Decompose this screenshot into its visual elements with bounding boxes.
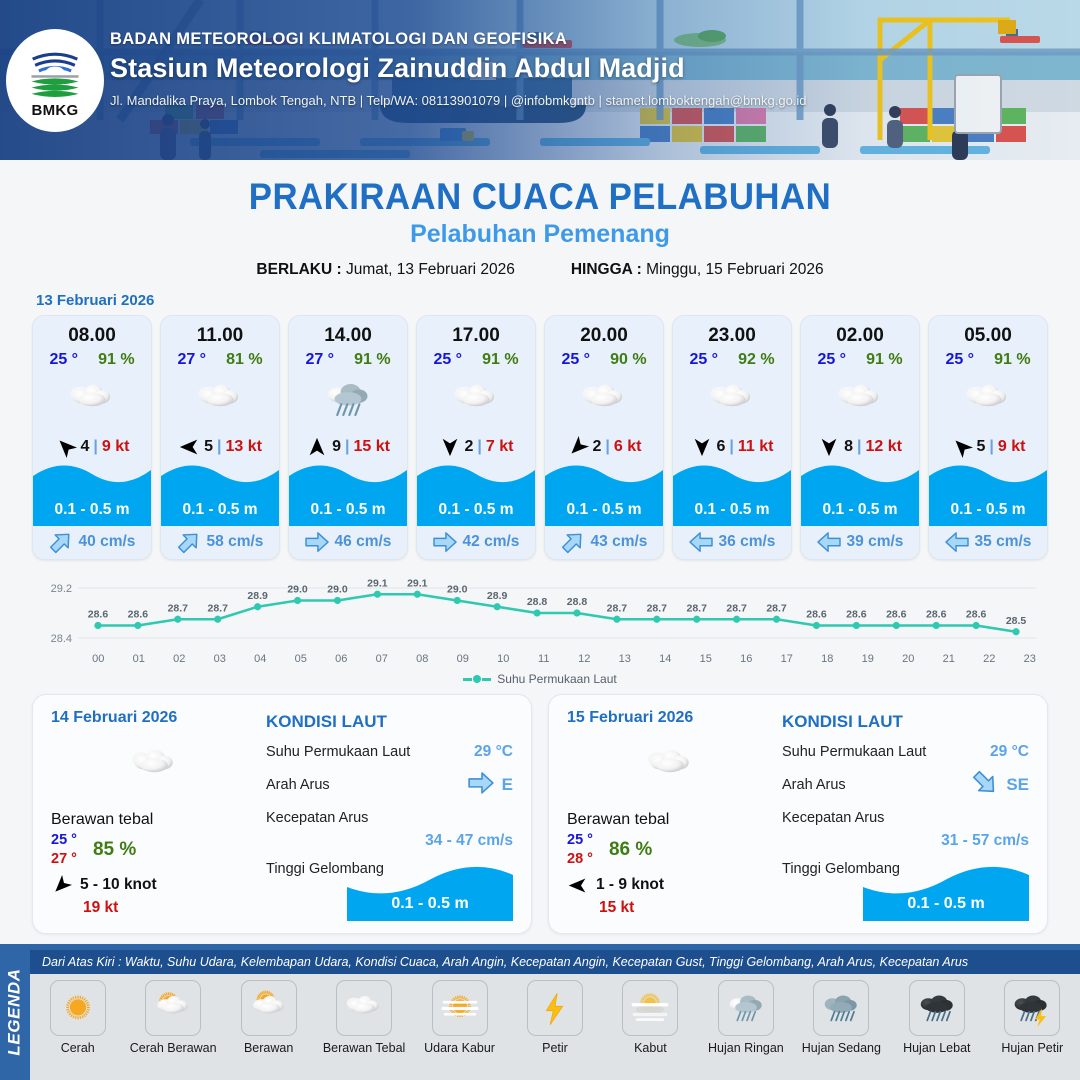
legend-caption: Dari Atas Kiri : Waktu, Suhu Udara, Kele… (30, 950, 1080, 974)
hourly-forecast-card: 20.00 25 ° 90 % 2 | 6 kt (544, 315, 664, 560)
card-weather-cloudy-icon (929, 373, 1047, 428)
page-title: PRAKIRAAN CUACA PELABUHAN (32, 176, 1047, 218)
bmkg-logo-text: BMKG (31, 102, 78, 119)
hourly-forecast-card: 23.00 25 ° 92 % 6 | 11 kt (672, 315, 792, 560)
hourly-forecast-card: 08.00 25 ° 91 % 4 | 9 kt (32, 315, 152, 560)
current-direction-icon (433, 532, 457, 552)
svg-text:28.7: 28.7 (168, 602, 189, 614)
wind-direction-icon (818, 436, 840, 458)
panel-gust: 15 kt (599, 899, 772, 917)
separator: | (217, 438, 221, 456)
wind-direction-icon (951, 436, 973, 458)
current-speed-label: Kecepatan Arus (266, 810, 368, 826)
panel-date: 15 Februari 2026 (567, 709, 772, 727)
legend-heavy-rain-icon (909, 980, 965, 1036)
panel-current-direction-icon (972, 772, 998, 799)
bmkg-logo-mark (24, 43, 86, 105)
legend-icon-row: Cerah Cerah Berawan (30, 974, 1080, 1080)
current-speed-value: 43 cm/s (591, 533, 648, 551)
card-temperature: 27 ° (177, 351, 206, 369)
card-time: 02.00 (801, 316, 919, 347)
hourly-forecast-row: 08.00 25 ° 91 % 4 | 9 kt (0, 315, 1080, 560)
chart-xtick: 00 (78, 653, 119, 665)
svg-text:28.7: 28.7 (686, 602, 707, 614)
panel-condition: Berawan tebal (567, 811, 772, 829)
wave-height-value: 0.1 - 0.5 m (823, 501, 898, 519)
wind-gust-value: 6 kt (614, 438, 642, 456)
chart-xtick: 21 (929, 653, 970, 665)
valid-to: HINGGA : Minggu, 15 Februari 2026 (571, 261, 824, 279)
separator: | (477, 438, 481, 456)
card-weather-light-rain-icon (289, 373, 407, 428)
legend-item-label: Berawan (244, 1041, 293, 1055)
legend-haze-icon (432, 980, 488, 1036)
wind-direction-value: 4 (81, 438, 90, 456)
svg-text:28.5: 28.5 (1006, 615, 1027, 627)
legend-item: Berawan (223, 980, 315, 1055)
legend-item: Hujan Ringan (700, 980, 792, 1055)
card-temperature: 25 ° (561, 351, 590, 369)
day1-date-label: 13 Februari 2026 (36, 292, 1080, 309)
current-speed-value: 46 cm/s (335, 533, 392, 551)
current-direction-icon (561, 532, 585, 552)
wind-direction-icon (439, 436, 461, 458)
card-time: 14.00 (289, 316, 407, 347)
card-weather-cloudy-icon (801, 373, 919, 428)
svg-text:28.6: 28.6 (88, 609, 109, 621)
wind-gust-value: 12 kt (865, 438, 901, 456)
legend-section: LEGENDA Dari Atas Kiri : Waktu, Suhu Uda… (0, 944, 1080, 1080)
sst-chart-legend: Suhu Permukaan Laut (30, 672, 1050, 686)
svg-text:29.2: 29.2 (51, 583, 72, 595)
chart-xtick: 08 (402, 653, 443, 665)
card-wave-graphic: 0.1 - 0.5 m (929, 459, 1047, 526)
separator: | (729, 438, 733, 456)
legend-item: Petir (509, 980, 601, 1055)
chart-xtick: 09 (443, 653, 484, 665)
card-temperature: 25 ° (945, 351, 974, 369)
hourly-forecast-card: 02.00 25 ° 91 % 8 | 12 kt (800, 315, 920, 560)
card-time: 11.00 (161, 316, 279, 347)
daily-forecast-panel: 14 Februari 2026 Berawan tebal 25 ° 27 °… (32, 694, 532, 934)
card-time: 08.00 (33, 316, 151, 347)
card-wave-graphic: 0.1 - 0.5 m (673, 459, 791, 526)
card-time: 17.00 (417, 316, 535, 347)
card-wave-graphic: 0.1 - 0.5 m (417, 459, 535, 526)
current-speed-value: 58 cm/s (207, 533, 264, 551)
valid-to-value: Minggu, 15 Februari 2026 (646, 261, 824, 278)
chart-xtick: 06 (321, 653, 362, 665)
separator: | (989, 438, 993, 456)
svg-text:28.4: 28.4 (51, 633, 72, 645)
panel-wind-direction-icon (51, 875, 73, 895)
wave-height-value: 0.1 - 0.5 m (311, 501, 386, 519)
card-humidity: 91 % (994, 351, 1030, 369)
legend-lightning-icon (527, 980, 583, 1036)
wind-gust-value: 13 kt (225, 438, 261, 456)
daily-forecast-panels: 14 Februari 2026 Berawan tebal 25 ° 27 °… (0, 686, 1080, 934)
panel-wave-value: 0.1 - 0.5 m (347, 895, 513, 913)
svg-text:29.0: 29.0 (287, 584, 308, 596)
wave-height-value: 0.1 - 0.5 m (567, 501, 642, 519)
sst-label: Suhu Permukaan Laut (266, 744, 410, 760)
card-weather-cloudy-icon (545, 373, 663, 428)
panel-temp-max: 28 ° (567, 851, 593, 867)
legend-item: Hujan Lebat (891, 980, 983, 1055)
svg-text:28.8: 28.8 (567, 596, 588, 608)
svg-text:28.6: 28.6 (128, 609, 149, 621)
wind-direction-icon (55, 436, 77, 458)
panel-gust: 19 kt (83, 899, 256, 917)
card-temperature: 27 ° (305, 351, 334, 369)
panel-wave-graphic: 0.1 - 0.5 m (863, 863, 1029, 921)
legend-item: Berawan Tebal (318, 980, 410, 1055)
chart-xtick: 19 (848, 653, 889, 665)
sst-chart-section: 29.228.428.628.628.728.728.929.029.029.1… (0, 560, 1080, 686)
chart-xtick: 12 (564, 653, 605, 665)
current-speed-value: 40 cm/s (79, 533, 136, 551)
card-wave-graphic: 0.1 - 0.5 m (161, 459, 279, 526)
validity-row: BERLAKU : Jumat, 13 Februari 2026 HINGGA… (0, 261, 1080, 279)
card-humidity: 81 % (226, 351, 262, 369)
wave-height-value: 0.1 - 0.5 m (183, 501, 258, 519)
current-speed-value: 42 cm/s (463, 533, 520, 551)
legend-label: Suhu Permukaan Laut (497, 672, 616, 686)
legend-item-label: Hujan Sedang (802, 1041, 881, 1055)
wind-gust-value: 7 kt (486, 438, 514, 456)
legend-item-label: Udara Kabur (424, 1041, 495, 1055)
wind-gust-value: 15 kt (353, 438, 389, 456)
port-name: Pelabuhan Pemenang (0, 220, 1080, 249)
legend-moderate-rain-icon (813, 980, 869, 1036)
wind-direction-icon (567, 436, 589, 458)
title-section: PRAKIRAAN CUACA PELABUHAN Pelabuhan Peme… (0, 160, 1080, 279)
sst-value: 29 °C (474, 743, 513, 761)
wave-band: 0.1 - 0.5 m (289, 494, 407, 526)
card-wave-graphic: 0.1 - 0.5 m (801, 459, 919, 526)
legend-item: Udara Kabur (414, 980, 506, 1055)
wave-curve (673, 460, 791, 494)
page-header: BMKG BADAN METEOROLOGI KLIMATOLOGI DAN G… (0, 0, 1080, 160)
panel-wave-value: 0.1 - 0.5 m (863, 895, 1029, 913)
current-direction-value: E (502, 775, 513, 795)
card-temperature: 25 ° (433, 351, 462, 369)
hourly-forecast-card: 11.00 27 ° 81 % 5 | 13 kt (160, 315, 280, 560)
current-direction-label: Arah Arus (266, 777, 330, 793)
wave-band: 0.1 - 0.5 m (673, 494, 791, 526)
current-speed-label: Kecepatan Arus (782, 810, 884, 826)
panel-wind-range: 1 - 9 knot (596, 876, 664, 894)
station-name: Stasiun Meteorologi Zainuddin Abdul Madj… (110, 53, 807, 84)
separator: | (93, 438, 97, 456)
wave-band: 0.1 - 0.5 m (929, 494, 1047, 526)
hourly-forecast-card: 14.00 27 ° 91 % 9 | 15 kt (288, 315, 408, 560)
panel-wind-range: 5 - 10 knot (80, 876, 157, 894)
card-humidity: 90 % (610, 351, 646, 369)
chart-xtick: 04 (240, 653, 281, 665)
wind-direction-icon (178, 436, 200, 458)
agency-name: BADAN METEOROLOGI KLIMATOLOGI DAN GEOFIS… (110, 30, 807, 49)
svg-text:29.1: 29.1 (367, 577, 388, 589)
sea-condition-title: KONDISI LAUT (782, 712, 1029, 732)
sea-condition-title: KONDISI LAUT (266, 712, 513, 732)
panel-humidity: 85 % (93, 839, 136, 861)
chart-xtick: 22 (969, 653, 1010, 665)
chart-xtick: 01 (119, 653, 160, 665)
wave-height-value: 0.1 - 0.5 m (951, 501, 1026, 519)
card-temperature: 25 ° (689, 351, 718, 369)
wind-direction-value: 2 (465, 438, 474, 456)
current-direction-icon (49, 532, 73, 552)
wave-curve (545, 460, 663, 494)
chart-xtick: 23 (1010, 653, 1051, 665)
sst-value: 29 °C (990, 743, 1029, 761)
current-speed-value: 34 - 47 cm/s (266, 832, 513, 850)
panel-weather-cloudy-thick-icon (567, 735, 772, 797)
legend-partly-cloudy-icon (145, 980, 201, 1036)
legend-fog-icon (622, 980, 678, 1036)
hourly-forecast-card: 17.00 25 ° 91 % 2 | 7 kt (416, 315, 536, 560)
svg-text:28.6: 28.6 (806, 609, 827, 621)
wind-direction-icon (691, 436, 713, 458)
panel-current-direction-icon (468, 772, 494, 799)
legend-marker (463, 675, 491, 683)
svg-text:29.0: 29.0 (327, 584, 348, 596)
valid-to-label: HINGGA : (571, 261, 642, 278)
chart-xtick: 15 (686, 653, 727, 665)
current-direction-label: Arah Arus (782, 777, 846, 793)
legend-item-label: Berawan Tebal (323, 1041, 405, 1055)
wind-gust-value: 9 kt (102, 438, 130, 456)
legend-item-label: Hujan Petir (1001, 1041, 1063, 1055)
current-direction-icon (817, 532, 841, 552)
current-direction-value: SE (1006, 775, 1029, 795)
chart-xtick: 13 (605, 653, 646, 665)
legend-cloudy-thick-icon (336, 980, 392, 1036)
svg-text:28.7: 28.7 (207, 602, 228, 614)
chart-xtick: 07 (362, 653, 403, 665)
legend-cloudy-sun-icon (241, 980, 297, 1036)
wave-curve (161, 460, 279, 494)
wind-gust-value: 9 kt (998, 438, 1026, 456)
chart-xtick: 17 (767, 653, 808, 665)
card-time: 05.00 (929, 316, 1047, 347)
panel-wave-graphic: 0.1 - 0.5 m (347, 863, 513, 921)
svg-text:29.0: 29.0 (447, 584, 468, 596)
panel-condition: Berawan tebal (51, 811, 256, 829)
chart-xtick: 16 (726, 653, 767, 665)
legend-thunderstorm-icon (1004, 980, 1060, 1036)
current-direction-icon (305, 532, 329, 552)
bmkg-logo: BMKG (6, 29, 104, 132)
wave-band: 0.1 - 0.5 m (545, 494, 663, 526)
svg-text:28.6: 28.6 (926, 609, 947, 621)
separator: | (857, 438, 861, 456)
chart-xtick: 14 (645, 653, 686, 665)
wave-height-value: 0.1 - 0.5 m (55, 501, 130, 519)
card-temperature: 25 ° (817, 351, 846, 369)
legend-side-label: LEGENDA (0, 944, 30, 1080)
svg-text:28.9: 28.9 (247, 590, 268, 602)
card-weather-cloudy-icon (673, 373, 791, 428)
card-weather-cloudy-icon (33, 373, 151, 428)
wave-curve (289, 460, 407, 494)
chart-xtick: 05 (281, 653, 322, 665)
current-direction-icon (689, 532, 713, 552)
svg-text:28.7: 28.7 (647, 602, 668, 614)
chart-xtick: 20 (888, 653, 929, 665)
chart-xtick: 02 (159, 653, 200, 665)
svg-text:28.7: 28.7 (726, 602, 747, 614)
current-speed-value: 36 cm/s (719, 533, 776, 551)
valid-from-value: Jumat, 13 Februari 2026 (346, 261, 515, 278)
wind-direction-value: 2 (593, 438, 602, 456)
panel-weather-cloudy-thick-icon (51, 735, 256, 797)
svg-text:29.1: 29.1 (407, 577, 428, 589)
legend-item-label: Petir (542, 1041, 568, 1055)
legend-item: Hujan Petir (986, 980, 1078, 1055)
card-wave-graphic: 0.1 - 0.5 m (545, 459, 663, 526)
daily-forecast-panel: 15 Februari 2026 Berawan tebal 25 ° 28 °… (548, 694, 1048, 934)
chart-xtick: 10 (483, 653, 524, 665)
wave-band: 0.1 - 0.5 m (33, 494, 151, 526)
wind-direction-value: 8 (844, 438, 853, 456)
legend-item: Cerah (32, 980, 124, 1055)
legend-item: Hujan Sedang (795, 980, 887, 1055)
wind-direction-value: 6 (717, 438, 726, 456)
svg-text:28.9: 28.9 (487, 590, 508, 602)
svg-text:28.6: 28.6 (966, 609, 987, 621)
hourly-forecast-card: 05.00 25 ° 91 % 5 | 9 kt (928, 315, 1048, 560)
wave-band: 0.1 - 0.5 m (417, 494, 535, 526)
wind-direction-icon (306, 436, 328, 458)
legend-item-label: Kabut (634, 1041, 667, 1055)
chart-xtick: 18 (807, 653, 848, 665)
wave-height-value: 0.1 - 0.5 m (695, 501, 770, 519)
separator: | (345, 438, 349, 456)
panel-temp-min: 25 ° (51, 832, 77, 848)
wave-curve (33, 460, 151, 494)
svg-text:28.7: 28.7 (607, 602, 628, 614)
chart-xtick: 11 (524, 653, 565, 665)
wave-curve (929, 460, 1047, 494)
current-direction-icon (945, 532, 969, 552)
wave-curve (417, 460, 535, 494)
valid-from-label: BERLAKU : (256, 261, 341, 278)
wave-curve (801, 460, 919, 494)
card-temperature: 25 ° (49, 351, 78, 369)
legend-item-label: Cerah (61, 1041, 95, 1055)
wind-direction-value: 5 (977, 438, 986, 456)
panel-humidity: 86 % (609, 839, 652, 861)
wave-band: 0.1 - 0.5 m (161, 494, 279, 526)
legend-item-label: Cerah Berawan (130, 1041, 217, 1055)
legend-side-text: LEGENDA (5, 968, 25, 1055)
wind-direction-value: 9 (332, 438, 341, 456)
sst-chart-svg: 29.228.428.628.628.728.728.929.029.029.1… (30, 572, 1050, 652)
card-wave-graphic: 0.1 - 0.5 m (33, 459, 151, 526)
current-direction-icon (177, 532, 201, 552)
sst-chart-xaxis: 0001020304050607080910111213141516171819… (30, 653, 1050, 665)
wave-band: 0.1 - 0.5 m (801, 494, 919, 526)
wind-direction-value: 5 (204, 438, 213, 456)
valid-from: BERLAKU : Jumat, 13 Februari 2026 (256, 261, 514, 279)
card-weather-cloudy-icon (161, 373, 279, 428)
legend-item: Cerah Berawan (127, 980, 219, 1055)
current-speed-value: 31 - 57 cm/s (782, 832, 1029, 850)
card-weather-cloudy-icon (417, 373, 535, 428)
contact-info: Jl. Mandalika Praya, Lombok Tengah, NTB … (110, 93, 807, 108)
card-humidity: 91 % (482, 351, 518, 369)
card-time: 23.00 (673, 316, 791, 347)
current-speed-value: 35 cm/s (975, 533, 1032, 551)
legend-light-rain-icon (718, 980, 774, 1036)
separator: | (605, 438, 609, 456)
panel-temp-min: 25 ° (567, 832, 593, 848)
legend-item-label: Hujan Lebat (903, 1041, 970, 1055)
wind-gust-value: 11 kt (738, 438, 774, 456)
svg-text:28.8: 28.8 (527, 596, 548, 608)
sst-chart: 29.228.428.628.628.728.728.929.029.029.1… (30, 572, 1050, 652)
card-time: 20.00 (545, 316, 663, 347)
current-speed-value: 39 cm/s (847, 533, 904, 551)
legend-sunny-icon (50, 980, 106, 1036)
svg-text:28.6: 28.6 (846, 609, 867, 621)
card-humidity: 91 % (354, 351, 390, 369)
card-humidity: 91 % (98, 351, 134, 369)
card-wave-graphic: 0.1 - 0.5 m (289, 459, 407, 526)
card-humidity: 92 % (738, 351, 774, 369)
card-humidity: 91 % (866, 351, 902, 369)
svg-text:28.7: 28.7 (766, 602, 787, 614)
legend-caption-text: Dari Atas Kiri : Waktu, Suhu Udara, Kele… (42, 955, 968, 969)
panel-temp-max: 27 ° (51, 851, 77, 867)
sst-label: Suhu Permukaan Laut (782, 744, 926, 760)
panel-date: 14 Februari 2026 (51, 709, 256, 727)
wave-height-value: 0.1 - 0.5 m (439, 501, 514, 519)
chart-xtick: 03 (200, 653, 241, 665)
panel-wind-direction-icon (567, 875, 589, 895)
svg-text:28.6: 28.6 (886, 609, 907, 621)
legend-item: Kabut (604, 980, 696, 1055)
legend-item-label: Hujan Ringan (708, 1041, 784, 1055)
